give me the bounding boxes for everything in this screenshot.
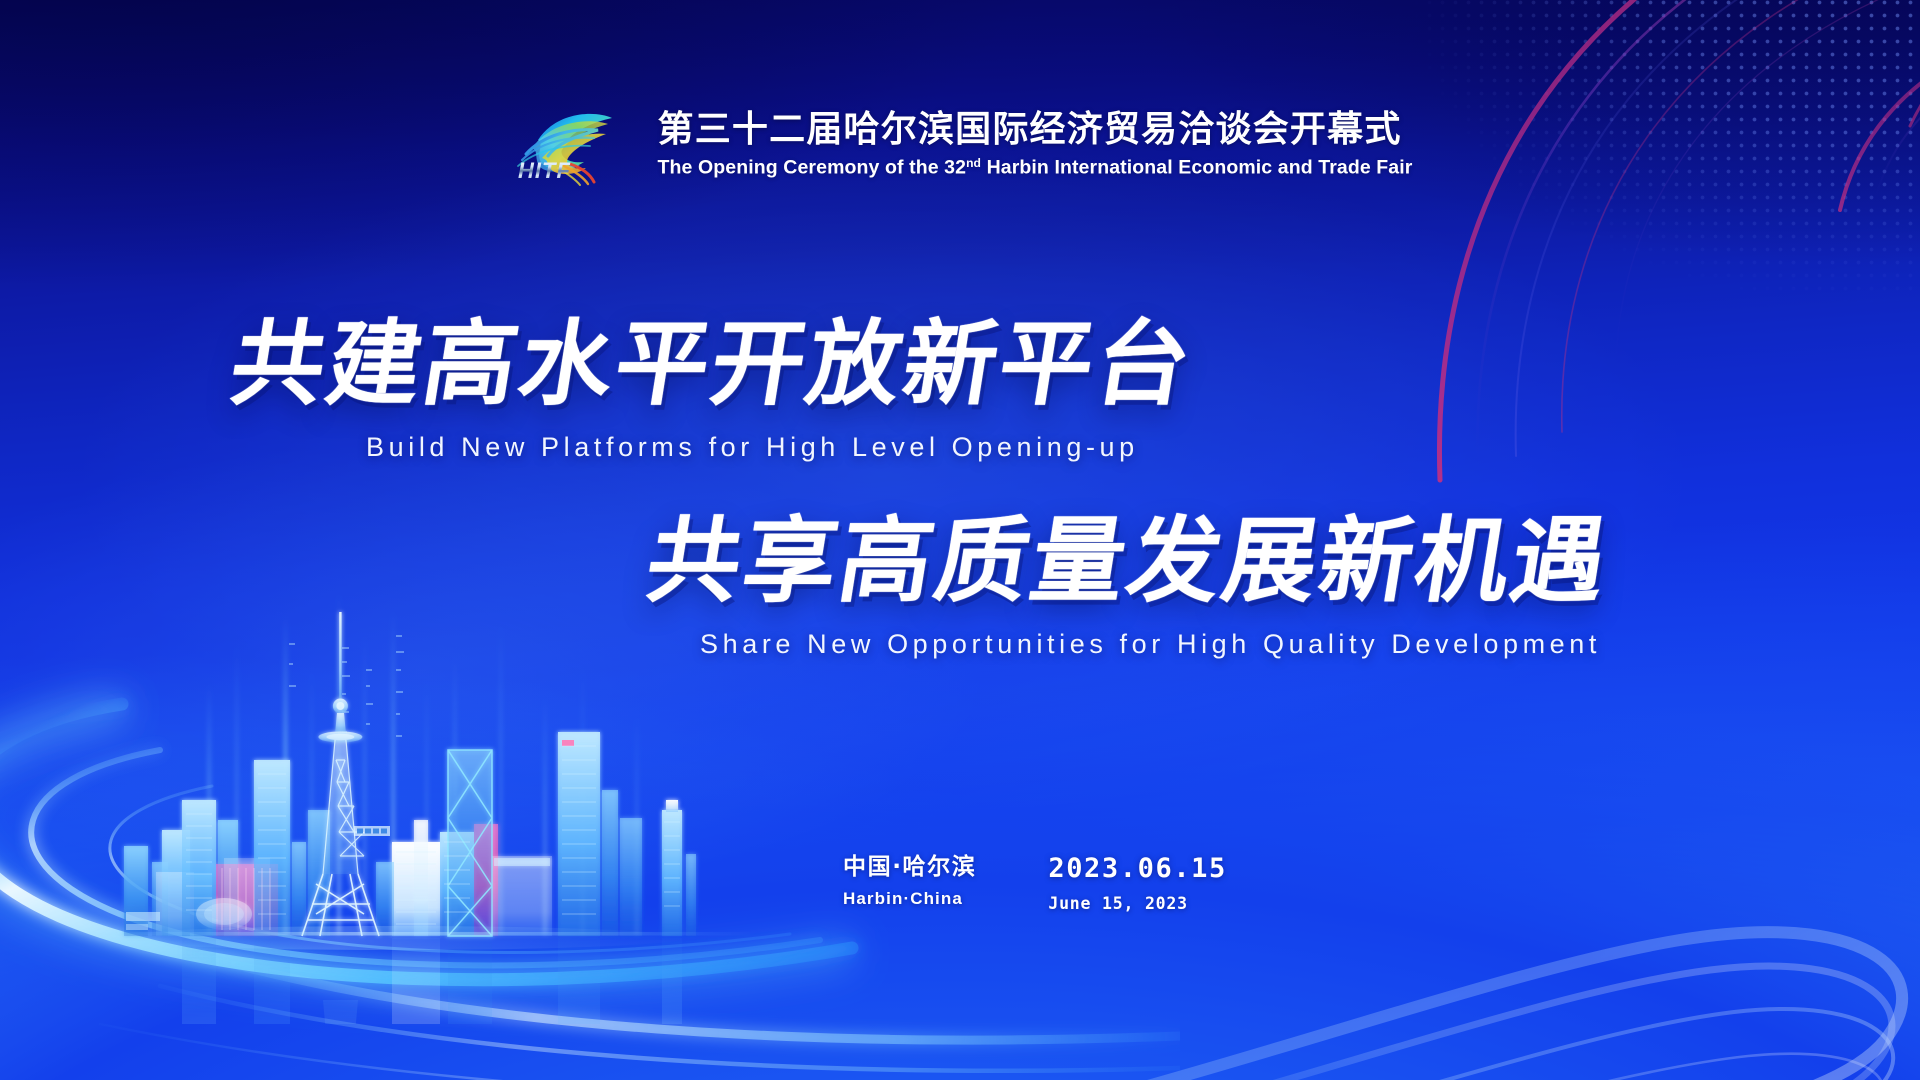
- poster-canvas: HITF 第三十二届哈尔滨国际经济贸易洽谈会开幕式 The Opening Ce…: [0, 0, 1920, 1080]
- event-place: 中国·哈尔滨 Harbin·China: [843, 853, 976, 911]
- header-title-cn: 第三十二届哈尔滨国际经济贸易洽谈会开幕式: [658, 110, 1402, 150]
- header-lockup: HITF 第三十二届哈尔滨国际经济贸易洽谈会开幕式 The Opening Ce…: [0, 104, 1920, 186]
- slogan-2-en: Share New Opportunities for High Quality…: [0, 629, 1920, 660]
- hitf-wordmark: HITF: [518, 158, 571, 183]
- slogan-group: 共建高水平开放新平台 Build New Platforms for High …: [0, 318, 1920, 660]
- event-meta: 中国·哈尔滨 Harbin·China 2023.06.15 June 15, …: [843, 853, 1227, 915]
- place-en: Harbin·China: [843, 888, 976, 910]
- date-english: June 15, 2023: [1048, 893, 1227, 914]
- header-title-en: The Opening Ceremony of the 32nd Harbin …: [658, 156, 1413, 180]
- slogan-1-cn: 共建高水平开放新平台: [0, 318, 1920, 411]
- header-title-en-post: Harbin International Economic and Trade …: [981, 156, 1412, 178]
- slogan-2: 共享高质量发展新机遇 Share New Opportunities for H…: [0, 515, 1920, 660]
- ordinal-suffix: nd: [966, 156, 981, 170]
- hitf-ribbon-logo: HITF: [508, 104, 636, 186]
- header-title-en-pre: The Opening Ceremony of the 32: [658, 156, 967, 178]
- slogan-2-cn: 共享高质量发展新机遇: [0, 515, 1920, 608]
- place-cn: 中国·哈尔滨: [843, 853, 976, 882]
- date-numeric: 2023.06.15: [1048, 853, 1227, 884]
- slogan-1-en: Build New Platforms for High Level Openi…: [0, 432, 1920, 463]
- event-date: 2023.06.15 June 15, 2023: [1048, 853, 1227, 915]
- slogan-1: 共建高水平开放新平台 Build New Platforms for High …: [0, 318, 1920, 463]
